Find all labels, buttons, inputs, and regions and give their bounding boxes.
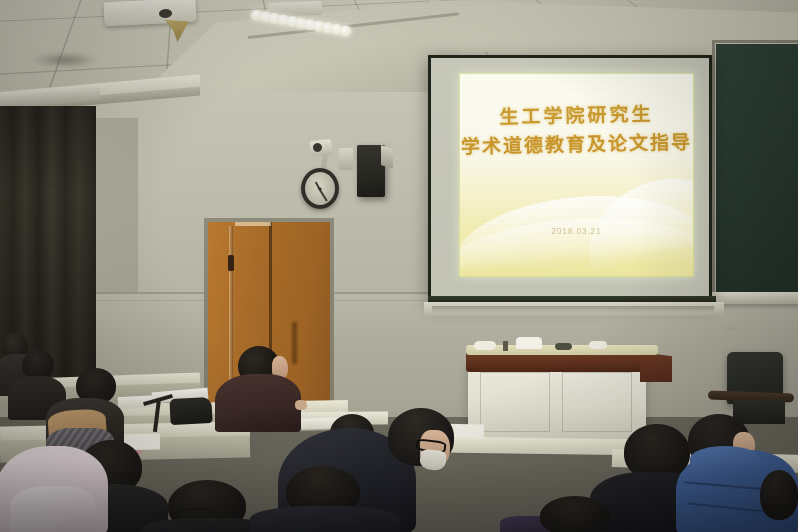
backpack xyxy=(169,397,212,425)
jacket-fold xyxy=(10,486,96,532)
podium-panel xyxy=(480,372,550,432)
ceiling-stain xyxy=(30,52,100,68)
camera-lens-icon xyxy=(313,143,322,152)
board-ledge-inner xyxy=(432,306,714,313)
student-head xyxy=(760,470,798,520)
seated-man-hand xyxy=(295,400,307,410)
projected-slide: 生工学院研究生 学术道德教育及论文指导 2018.03.21 xyxy=(459,73,694,277)
podium-microphone xyxy=(503,341,508,351)
student-body xyxy=(250,506,400,532)
student-head xyxy=(540,496,610,532)
clock-minute-hand xyxy=(319,189,328,201)
door-handle[interactable] xyxy=(228,255,234,271)
podium-wood-trim-side xyxy=(640,352,672,382)
side-wall-left xyxy=(96,118,138,303)
speaker-label xyxy=(723,327,735,330)
sensor-box xyxy=(339,148,353,170)
wall-clock xyxy=(301,168,339,209)
slide-edge-glow xyxy=(459,73,694,277)
lecture-chair-seat xyxy=(733,400,785,424)
blackboard-frame xyxy=(712,40,798,300)
podium-wood-trim xyxy=(466,352,654,372)
speaker-bracket xyxy=(381,145,393,169)
lecture-hall-photo: 生工学院研究生 学术道德教育及论文指导 2018.03.21 xyxy=(0,0,798,532)
face-mask-icon xyxy=(419,449,447,472)
podium-papers xyxy=(474,341,496,350)
seated-man-jacket xyxy=(215,374,301,432)
jacket-hood xyxy=(690,446,760,472)
eyeglasses-icon xyxy=(33,367,53,372)
podium-papers xyxy=(589,341,607,349)
clock-center-pin xyxy=(319,187,322,190)
podium-panel xyxy=(562,372,632,432)
podium-cup xyxy=(516,337,542,349)
door-scuff-mark xyxy=(292,322,297,364)
door-top-light-gap xyxy=(235,222,271,226)
podium-device xyxy=(555,343,572,350)
